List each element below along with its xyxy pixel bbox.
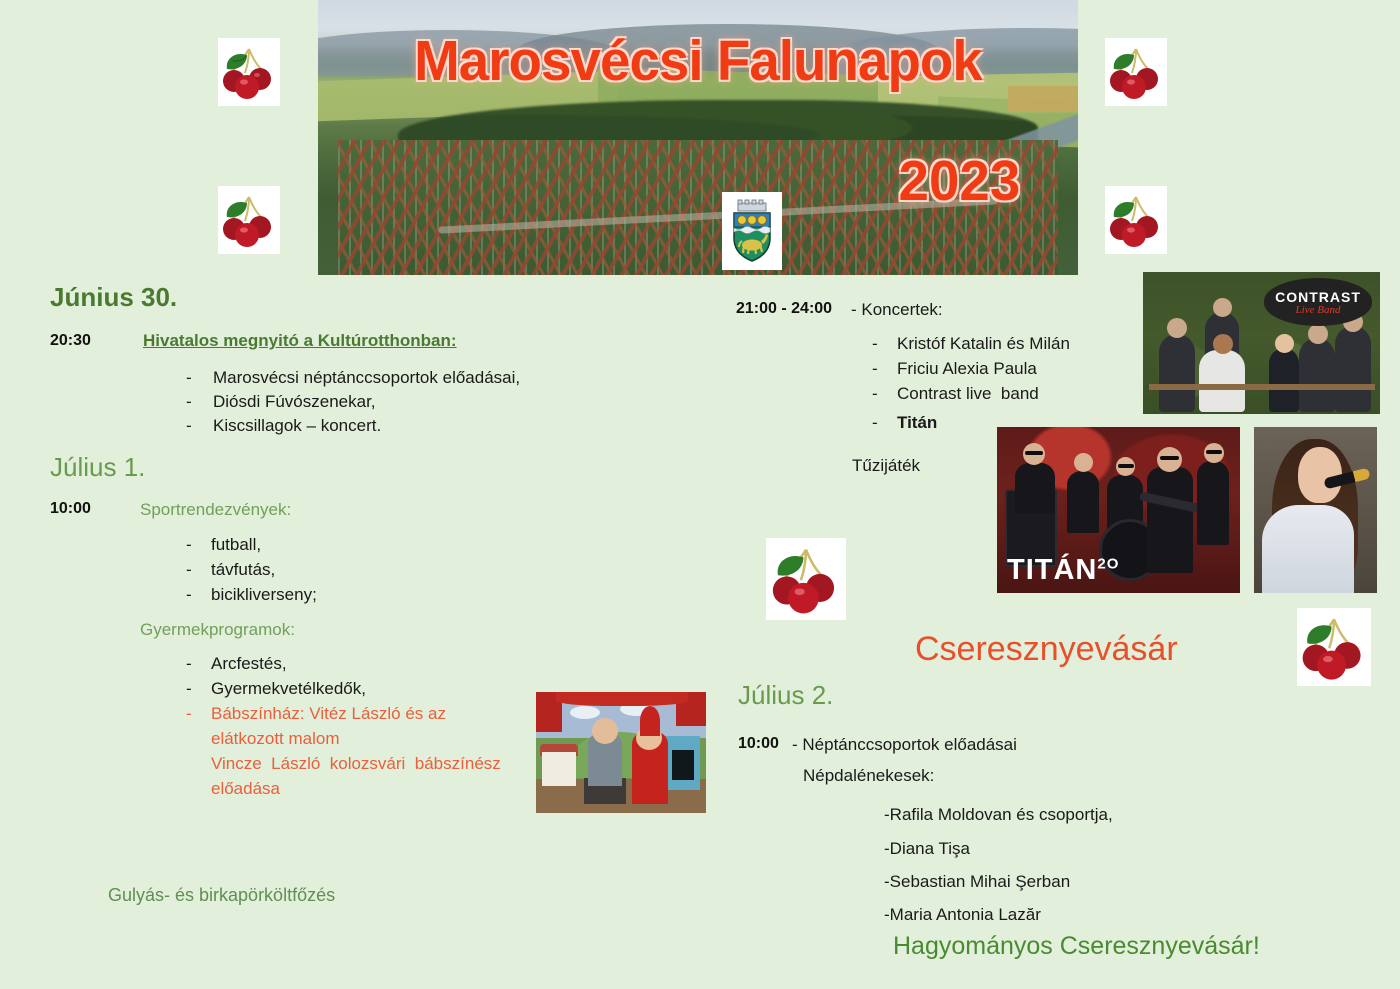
contrast-live-band-photo: CONTRAST Live Band (1143, 272, 1380, 414)
sunglasses (1118, 464, 1134, 468)
contrast-logo-line1: CONTRAST (1275, 289, 1361, 305)
bullet-dash: - (186, 585, 192, 605)
bullet-dash: - (186, 535, 192, 555)
festival-poster: Marosvécsi Falunapok 2023 (0, 0, 1400, 989)
titan-wordmark-sup: 2O (1097, 555, 1119, 572)
day2-sport-item: bicikliverseny; (211, 585, 317, 605)
cherry-decoration-mid-left (218, 186, 280, 254)
painted-door (672, 750, 694, 780)
bullet-dash: - (872, 334, 878, 354)
bullet-dash: - (872, 413, 878, 433)
concert-item: Contrast live band (897, 384, 1039, 404)
day-heading-july-1: Július 1. (50, 452, 145, 483)
band-member (1199, 350, 1245, 412)
day-heading-july-2: Július 2. (738, 680, 833, 711)
bullet-dash: - (186, 704, 192, 724)
bullet-dash: - (186, 368, 192, 388)
band-member (1015, 463, 1055, 513)
puppet-red-hat (640, 706, 660, 736)
band-member (1269, 348, 1299, 412)
bullet-dash: - (872, 359, 878, 379)
day3-singer: -Diana Tişa (884, 839, 970, 859)
cherries-icon (769, 542, 843, 616)
singer-blouse (1262, 505, 1354, 593)
mural-crown-icon (738, 200, 766, 211)
day2-puppet-line3: Vincze László kolozsvári bábszínész (211, 754, 501, 774)
poster-year: 2023 (899, 148, 1021, 214)
band-member (1335, 326, 1371, 412)
day2-cooking: Gulyás- és birkapörköltfőzés (108, 885, 335, 906)
day3-time: 10:00 (738, 735, 779, 753)
sunglasses (1160, 456, 1179, 460)
band-member-head (1074, 453, 1093, 472)
concert-item: Friciu Alexia Paula (897, 359, 1037, 379)
day-heading-june-30: Június 30. (50, 282, 177, 313)
contrast-logo: CONTRAST Live Band (1264, 278, 1372, 326)
coat-of-arms (722, 192, 782, 270)
puppet-theatre-photo (536, 692, 706, 813)
wooden-railing (1149, 384, 1375, 390)
bullet-dash: - (186, 560, 192, 580)
day3-singers-lead: Népdalénekesek: (803, 766, 934, 786)
cherries-icon (221, 191, 277, 249)
band-member-head (1213, 298, 1232, 317)
band-member (1299, 338, 1335, 412)
cherry-decoration-mid-right (1105, 186, 1167, 254)
titan-band-photo: TITÁN2O (997, 427, 1240, 593)
cherries-icon (221, 43, 277, 101)
band-member (1159, 334, 1195, 412)
day2-sport-item: távfutás, (211, 560, 275, 580)
cherry-decoration-bottom-right (1297, 608, 1371, 686)
concert-item: Kristóf Katalin és Milán (897, 334, 1070, 354)
day2-sport-lead: Sportrendezvények: (140, 500, 291, 520)
poster-title: Marosvécsi Falunapok (333, 28, 1063, 94)
contrast-logo-line2: Live Band (1296, 304, 1341, 316)
day2-puppet-line1: Bábszínház: Vitéz László és az (211, 704, 446, 724)
day1-item: Marosvécsi néptánccsoportok előadásai, (213, 368, 520, 388)
band-member-lead (1147, 467, 1193, 573)
titan-wordmark: TITÁN2O (1007, 554, 1119, 587)
day3-singer: -Rafila Moldovan és csoportja, (884, 805, 1113, 825)
band-member-head (1308, 324, 1328, 344)
sunglasses (1206, 450, 1222, 454)
day2-puppet-line2: elátkozott malom (211, 729, 340, 749)
closing-line: Hagyományos Cseresznyevásár! (893, 932, 1260, 961)
day1-item: Diósdi Fúvószenekar, (213, 392, 376, 412)
female-singer-photo (1254, 427, 1377, 593)
day1-time: 20:30 (50, 332, 91, 350)
concert-time: 21:00 - 24:00 (736, 300, 832, 318)
stage-curtain-top (556, 692, 688, 706)
day1-item: Kiscsillagok – koncert. (213, 416, 381, 436)
day3-label: - Néptánccsoportok előadásai (792, 735, 1017, 755)
sunglasses (1025, 451, 1043, 455)
day1-lead: Hivatalos megnyitó a Kultúrotthonban: (143, 331, 457, 351)
day3-singer: -Sebastian Mihai Şerban (884, 872, 1070, 892)
cherries-icon (1300, 612, 1368, 682)
band-member-head (1275, 334, 1294, 353)
day3-singer: -Maria Antonia Lazăr (884, 905, 1041, 925)
bullet-dash: - (186, 654, 192, 674)
header-banner-photo: Marosvécsi Falunapok 2023 (318, 0, 1078, 275)
day2-sport-item: futball, (211, 535, 261, 555)
band-member (1067, 471, 1099, 533)
cherries-icon (1108, 191, 1164, 249)
day2-time: 10:00 (50, 500, 91, 518)
day2-kids-item: Gyermekvetélkedők, (211, 679, 366, 699)
day2-kids-lead: Gyermekprogramok: (140, 620, 295, 640)
concert-label: - Koncertek: (851, 300, 943, 320)
fireworks-label: Tűzijáték (852, 456, 920, 476)
bullet-dash: - (186, 392, 192, 412)
cherry-decoration-top-left (218, 38, 280, 106)
cloud (570, 706, 600, 719)
titan-wordmark-text: TITÁN (1007, 554, 1097, 586)
painted-cottage (542, 752, 576, 786)
band-member-head (1213, 334, 1233, 354)
cherry-decoration-center (766, 538, 846, 620)
band-member (1197, 461, 1229, 545)
bullet-dash: - (186, 416, 192, 436)
day2-kids-item: Arcfestés, (211, 654, 287, 674)
bullet-dash: - (872, 384, 878, 404)
cherry-fair-heading: Cseresznyevásár (915, 630, 1178, 669)
concert-item-titan: Titán (897, 413, 937, 433)
cherries-icon (1108, 43, 1164, 101)
puppet-man-head (592, 718, 618, 744)
band-member-head (1167, 318, 1187, 338)
bullet-dash: - (186, 679, 192, 699)
day2-puppet-line4: előadása (211, 779, 280, 799)
cherry-decoration-top-right (1105, 38, 1167, 106)
